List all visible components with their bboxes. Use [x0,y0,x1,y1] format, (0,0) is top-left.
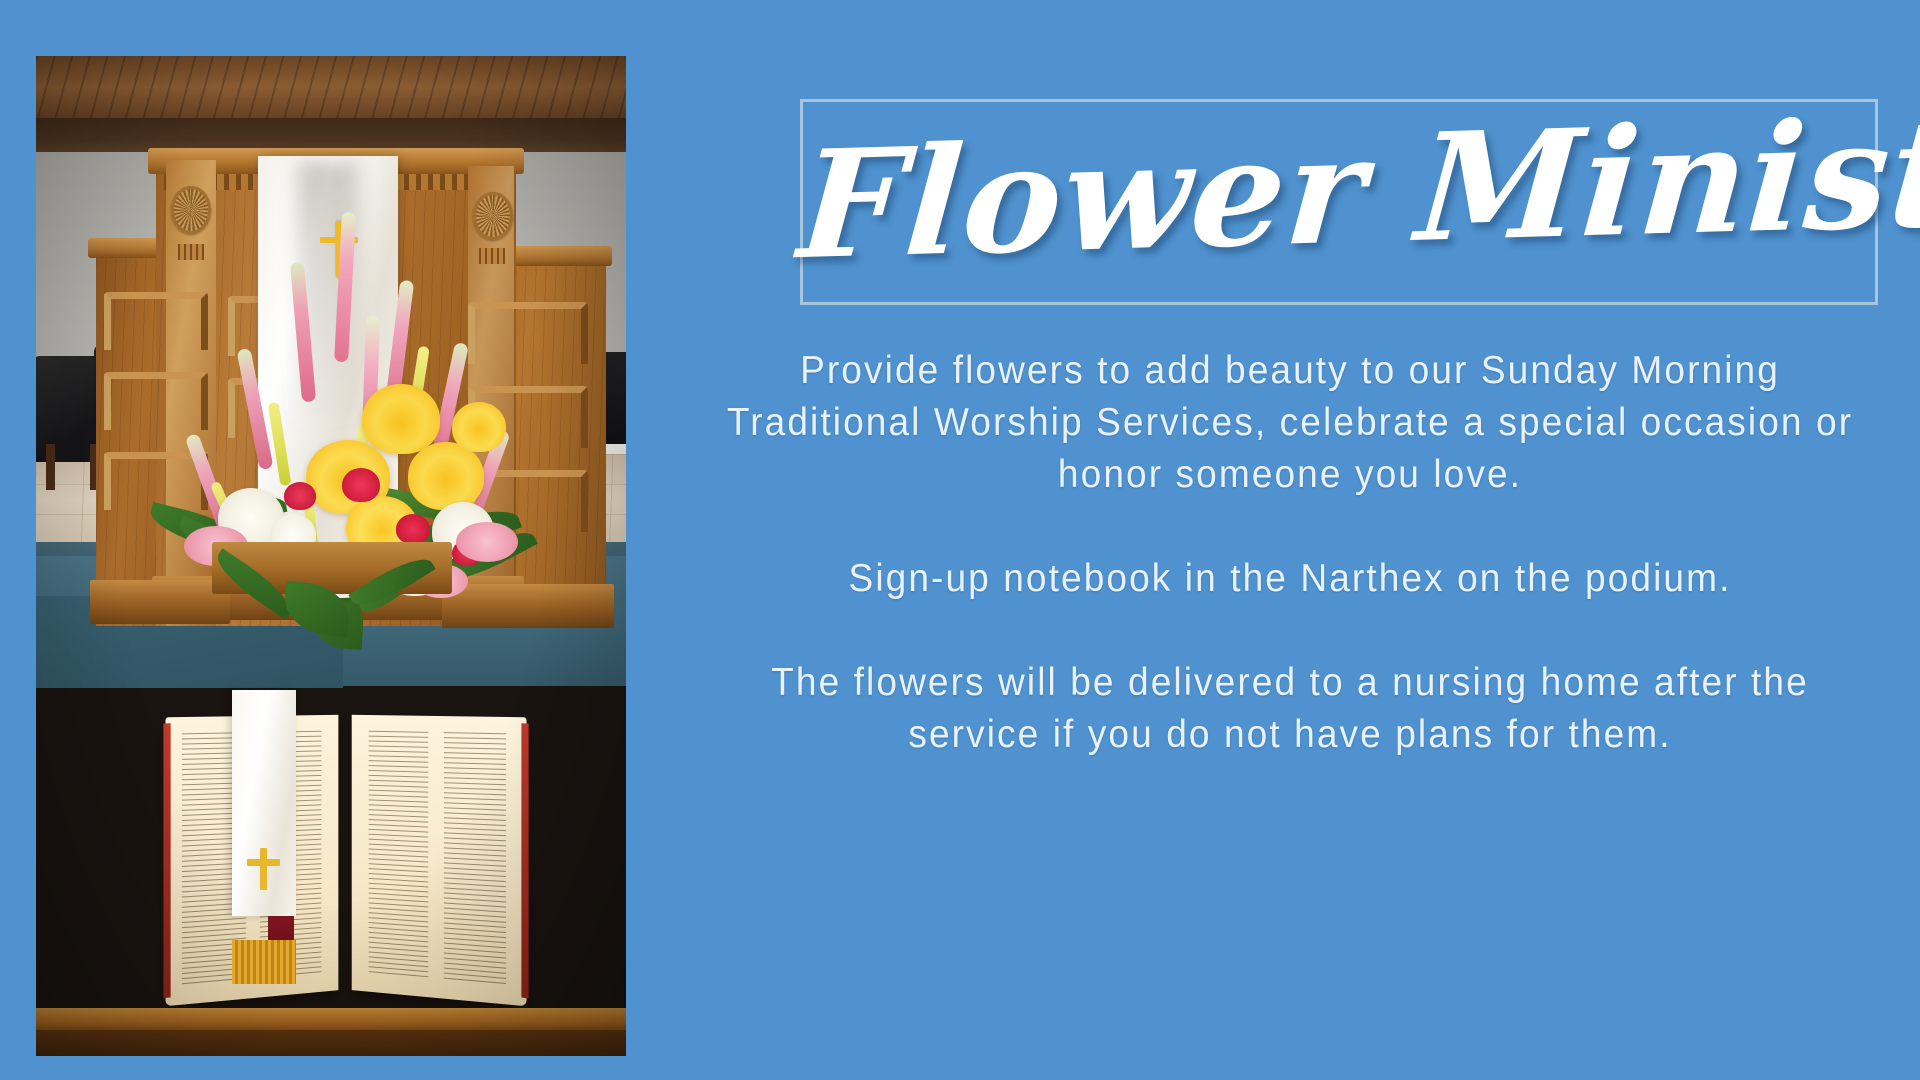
bible-text-column [369,731,429,980]
gold-cross-icon [260,848,267,890]
page-title: Flower Ministry [791,55,1887,326]
altar-table-shadow [36,1030,626,1056]
photo-scene [36,56,626,1056]
stole-gold-fringe [232,940,296,984]
bible-page-edge [521,723,528,998]
paragraph-purpose: Provide flowers to add beauty to our Sun… [711,345,1870,501]
poster-body: Provide flowers to add beauty to our Sun… [711,345,1870,761]
bible-page-edge [163,723,170,998]
poster-content: Flower Ministry Provide flowers to add b… [660,0,1920,1080]
open-bible [166,716,526,1016]
paragraph-delivery: The flowers will be delivered to a nursi… [711,657,1870,761]
paragraph-signup: Sign-up notebook in the Narthex on the p… [711,553,1870,605]
flower-ministry-poster: Flower Ministry Provide flowers to add b… [0,0,1920,1080]
bible-text-column [444,732,506,986]
wood-ceiling [36,56,626,126]
church-flowers-photo [36,56,626,1056]
bible-page-right [352,715,527,1007]
